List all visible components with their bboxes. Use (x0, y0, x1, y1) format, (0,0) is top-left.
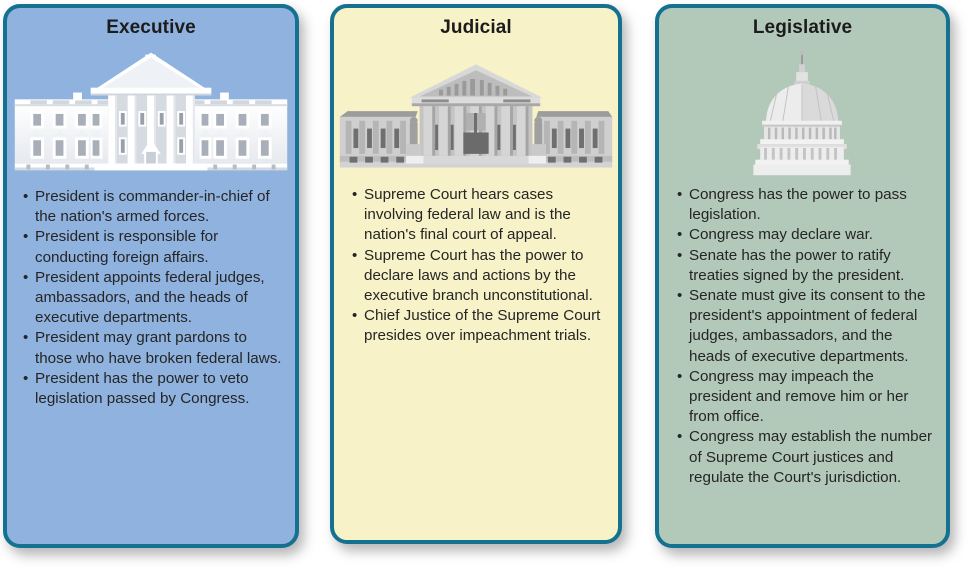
bullet-list-judicial: Supreme Court hears cases involving fede… (334, 175, 618, 347)
list-item: President has the power to veto legislat… (23, 369, 285, 409)
list-item: Supreme Court hears cases involving fede… (352, 185, 608, 246)
list-item: Senate has the power to ratify treaties … (677, 246, 936, 286)
list-item: President is commander-in-chief of the n… (23, 187, 285, 227)
bullet-list-legislative: Congress has the power to pass legislati… (659, 177, 946, 488)
bullet-list-executive: President is commander-in-chief of the n… (7, 179, 295, 409)
list-item: Chief Justice of the Supreme Court presi… (352, 306, 608, 346)
list-item: President appoints federal judges, ambas… (23, 268, 285, 329)
panel-judicial: Judicial (330, 4, 622, 544)
panel-title-legislative: Legislative (659, 17, 946, 39)
supreme-court-building-icon (334, 53, 618, 175)
list-item: Congress may impeach the president and r… (677, 367, 936, 428)
panel-executive: Executive (3, 4, 299, 548)
list-item: Congress has the power to pass legislati… (677, 185, 936, 225)
list-item: President may grant pardons to those who… (23, 328, 285, 368)
capitol-building-icon (659, 47, 946, 177)
list-item: Congress may establish the number of Sup… (677, 427, 936, 488)
branches-of-government-figure: Executive (0, 0, 969, 568)
panel-title-executive: Executive (7, 17, 295, 39)
white-house-icon (7, 45, 295, 179)
list-item: Congress may declare war. (677, 225, 936, 245)
list-item: Supreme Court has the power to declare l… (352, 246, 608, 307)
list-item: President is responsible for conducting … (23, 227, 285, 267)
panel-title-judicial: Judicial (334, 17, 618, 39)
panel-legislative: Legislative (655, 4, 950, 548)
list-item: Senate must give its consent to the pres… (677, 286, 936, 367)
